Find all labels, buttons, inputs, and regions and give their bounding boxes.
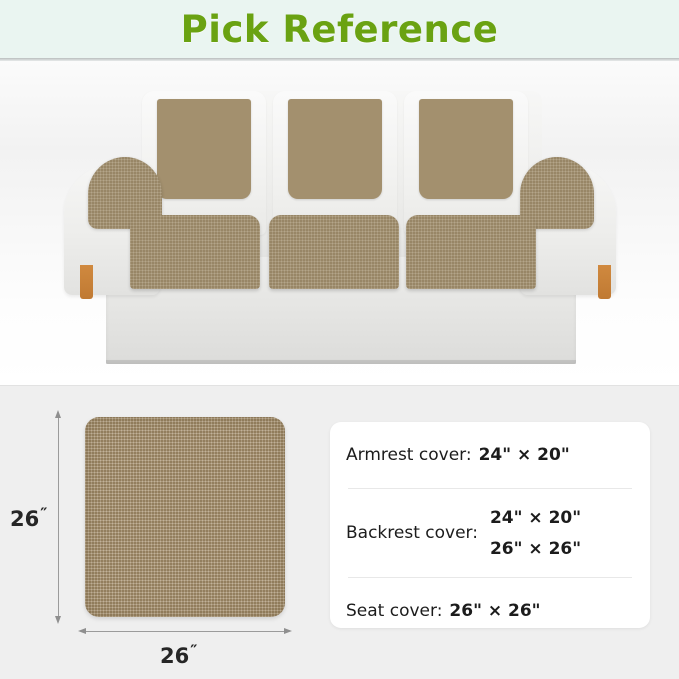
spec-value-seat: 26" × 26" [449,601,540,621]
backrest-cover-2 [288,99,382,199]
header-banner: Pick Reference [0,0,679,58]
height-dimension-arrow [58,417,59,617]
armrest-cover-flap-right [598,265,611,299]
width-value: 26 [160,644,189,668]
height-value: 26 [10,507,39,531]
spec-value-armrest: 24" × 20" [479,445,570,465]
spec-row-seat: Seat cover: 26" × 26" [346,578,634,644]
spec-label-armrest: Armrest cover: [346,445,472,465]
seat-cover-2 [269,215,399,289]
seat-cover-3 [406,215,536,289]
seat-cover-1 [130,215,260,289]
spec-value-backrest-2: 26" × 26" [490,539,581,559]
spec-row-armrest: Armrest cover: 24" × 20" [346,422,634,488]
spec-value-backrest-1: 24" × 20" [490,508,581,528]
backrest-cover-1 [157,99,251,199]
height-unit: ″ [40,504,46,523]
seat-cover-swatch [85,417,285,617]
spec-label-backrest: Backrest cover: [346,523,478,543]
backrest-cover-3 [419,99,513,199]
dimensions-section: 26″ 26″ Armrest cover: 24" × 20" Backres… [0,386,679,679]
pick-reference-image: Pick Reference [0,0,679,679]
specifications-card: Armrest cover: 24" × 20" Backrest cover:… [330,422,650,628]
height-dimension-label: 26″ [10,504,46,531]
spec-row-backrest: Backrest cover: 24" × 20" 26" × 26" [346,489,634,577]
width-unit: ″ [190,641,196,660]
sofa-photo [0,61,679,385]
sofa-illustration [58,79,624,379]
spec-values-backrest: 24" × 20" 26" × 26" [490,508,581,559]
armrest-cover-flap-left [80,265,93,299]
page-title: Pick Reference [181,11,499,48]
spec-label-seat: Seat cover: [346,601,442,621]
width-dimension-label: 26″ [160,641,196,668]
width-dimension-arrow [85,631,285,632]
